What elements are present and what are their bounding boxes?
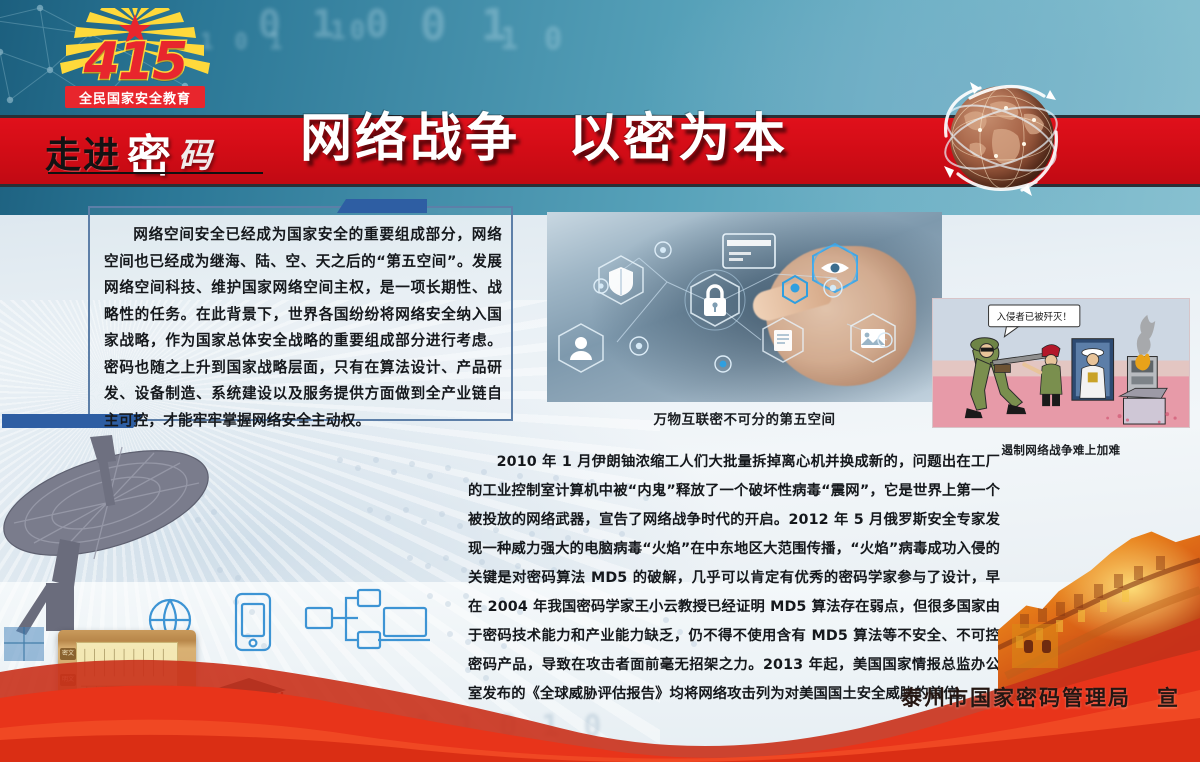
banner-left-part3: 码: [178, 128, 212, 177]
network-diagram-icon: [306, 608, 332, 628]
signature-suffix: 宣: [1157, 682, 1180, 712]
banner-left-underline: [48, 172, 263, 174]
intro-paragraph: 网络空间安全已经成为国家安全的重要组成部分，网络空间也已经成为继海、陆、空、天之…: [104, 222, 502, 434]
banner-left-part1: 走进: [45, 126, 121, 178]
photo-caption: 万物互联密不可分的第五空间: [547, 408, 942, 428]
scroll-tag-0: 密文: [60, 648, 76, 660]
laptop-icon: [384, 608, 426, 636]
globe-orbit-arrows-icon: [940, 78, 1062, 200]
binary-decor-2: 10: [330, 16, 369, 46]
scroll-row-tags: 密文 明文 码表 译文: [60, 648, 76, 752]
binary-decor-4: 1 0: [500, 22, 566, 57]
page-title: 网络战争 以密为本: [300, 98, 860, 168]
signature-organization: 泰州市国家密码管理局: [901, 682, 1131, 712]
scroll-tag-2: 码表: [60, 700, 76, 712]
logo-number: 415: [60, 32, 210, 92]
cartoon-illustration: 入侵者已被歼灭！: [932, 298, 1190, 428]
globe-graphic: [940, 78, 1062, 200]
poster-canvas: 1 0 1 0 1 0 10 0 1 1 0 415 全民国家安全教育 走进 密…: [0, 0, 1200, 762]
main-article-paragraph: 2010 年 1 月伊朗铀浓缩工人们大批量拆掉离心机并换成新的，问题出在工厂的工…: [468, 448, 1000, 709]
intro-textbox: 网络空间安全已经成为国家安全的重要组成部分，网络空间也已经成为继海、陆、空、天之…: [88, 206, 513, 421]
logo-band-label: 全民国家安全教育: [79, 88, 191, 107]
cartoon-speech-text: 入侵者已被歼灭！: [997, 311, 1072, 323]
security-icon-network: [547, 212, 942, 402]
scroll-tag-3: 译文: [60, 726, 76, 738]
page-title-part2: 以密为本: [568, 96, 788, 171]
logo-band: 全民国家安全教育: [65, 86, 205, 108]
binary-decor-bottom: 1 0 1 0 0 1 0 1 1 0 1 0: [120, 709, 604, 744]
logo-415: 415 全民国家安全教育: [60, 8, 210, 113]
signature-line: 泰州市国家密码管理局 宣: [901, 682, 1180, 712]
binary-decor-3: 0 1: [420, 0, 511, 51]
banner-left-part2: 密: [127, 120, 172, 184]
binary-decor-1: 0 1 0: [258, 2, 392, 46]
page-title-part1: 网络战争: [300, 96, 520, 171]
cyber-network-photo: [547, 212, 942, 402]
scroll-tag-1: 明文: [60, 674, 76, 686]
textbox-accent-tab: [337, 199, 427, 213]
